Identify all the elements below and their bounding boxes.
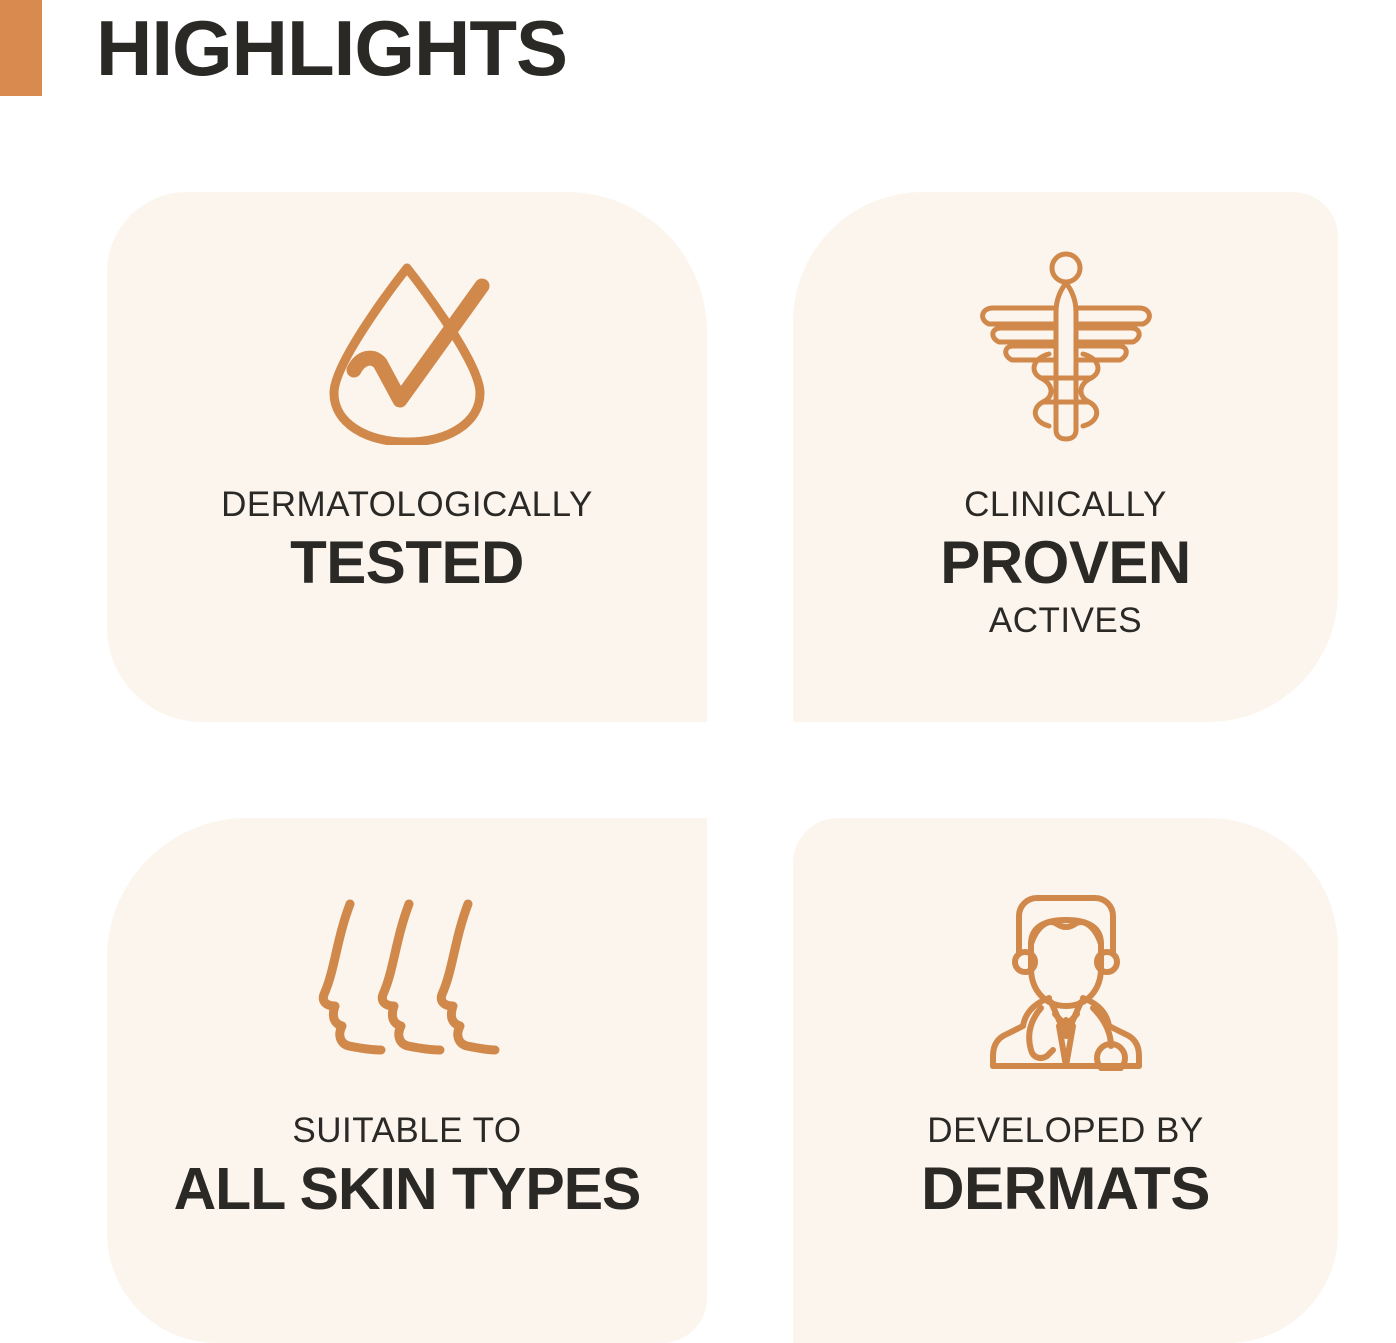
- card-caption: DEVELOPED BY DERMATS: [793, 1108, 1338, 1224]
- highlights-page: HIGHLIGHTS DERMATOLOGICALLY TESTED: [0, 0, 1396, 1343]
- three-face-profiles-icon: [107, 818, 707, 1108]
- card-caption: SUITABLE TO ALL SKIN TYPES: [107, 1108, 707, 1224]
- card-caption: CLINICALLY PROVEN ACTIVES: [793, 482, 1338, 644]
- highlight-card-all-skin-types: SUITABLE TO ALL SKIN TYPES: [107, 818, 707, 1343]
- caption-line-2: DERMATS: [793, 1154, 1338, 1224]
- droplet-check-icon: [107, 192, 707, 482]
- highlights-grid: DERMATOLOGICALLY TESTED: [0, 0, 1396, 1343]
- caption-line-1: CLINICALLY: [793, 482, 1338, 528]
- doctor-stethoscope-icon: [793, 818, 1338, 1108]
- highlight-card-dermatologically-tested: DERMATOLOGICALLY TESTED: [107, 192, 707, 722]
- caption-line-1: SUITABLE TO: [107, 1108, 707, 1154]
- caduceus-icon: [793, 192, 1338, 482]
- highlight-card-developed-by-dermats: DEVELOPED BY DERMATS: [793, 818, 1338, 1343]
- caption-line-1: DEVELOPED BY: [793, 1108, 1338, 1154]
- card-caption: DERMATOLOGICALLY TESTED: [107, 482, 707, 598]
- caption-line-3: ACTIVES: [793, 598, 1338, 644]
- caption-line-2: ALL SKIN TYPES: [107, 1154, 707, 1224]
- caption-line-2: TESTED: [107, 528, 707, 598]
- caption-line-1: DERMATOLOGICALLY: [107, 482, 707, 528]
- caption-line-2: PROVEN: [793, 528, 1338, 598]
- highlight-card-clinically-proven-actives: CLINICALLY PROVEN ACTIVES: [793, 192, 1338, 722]
